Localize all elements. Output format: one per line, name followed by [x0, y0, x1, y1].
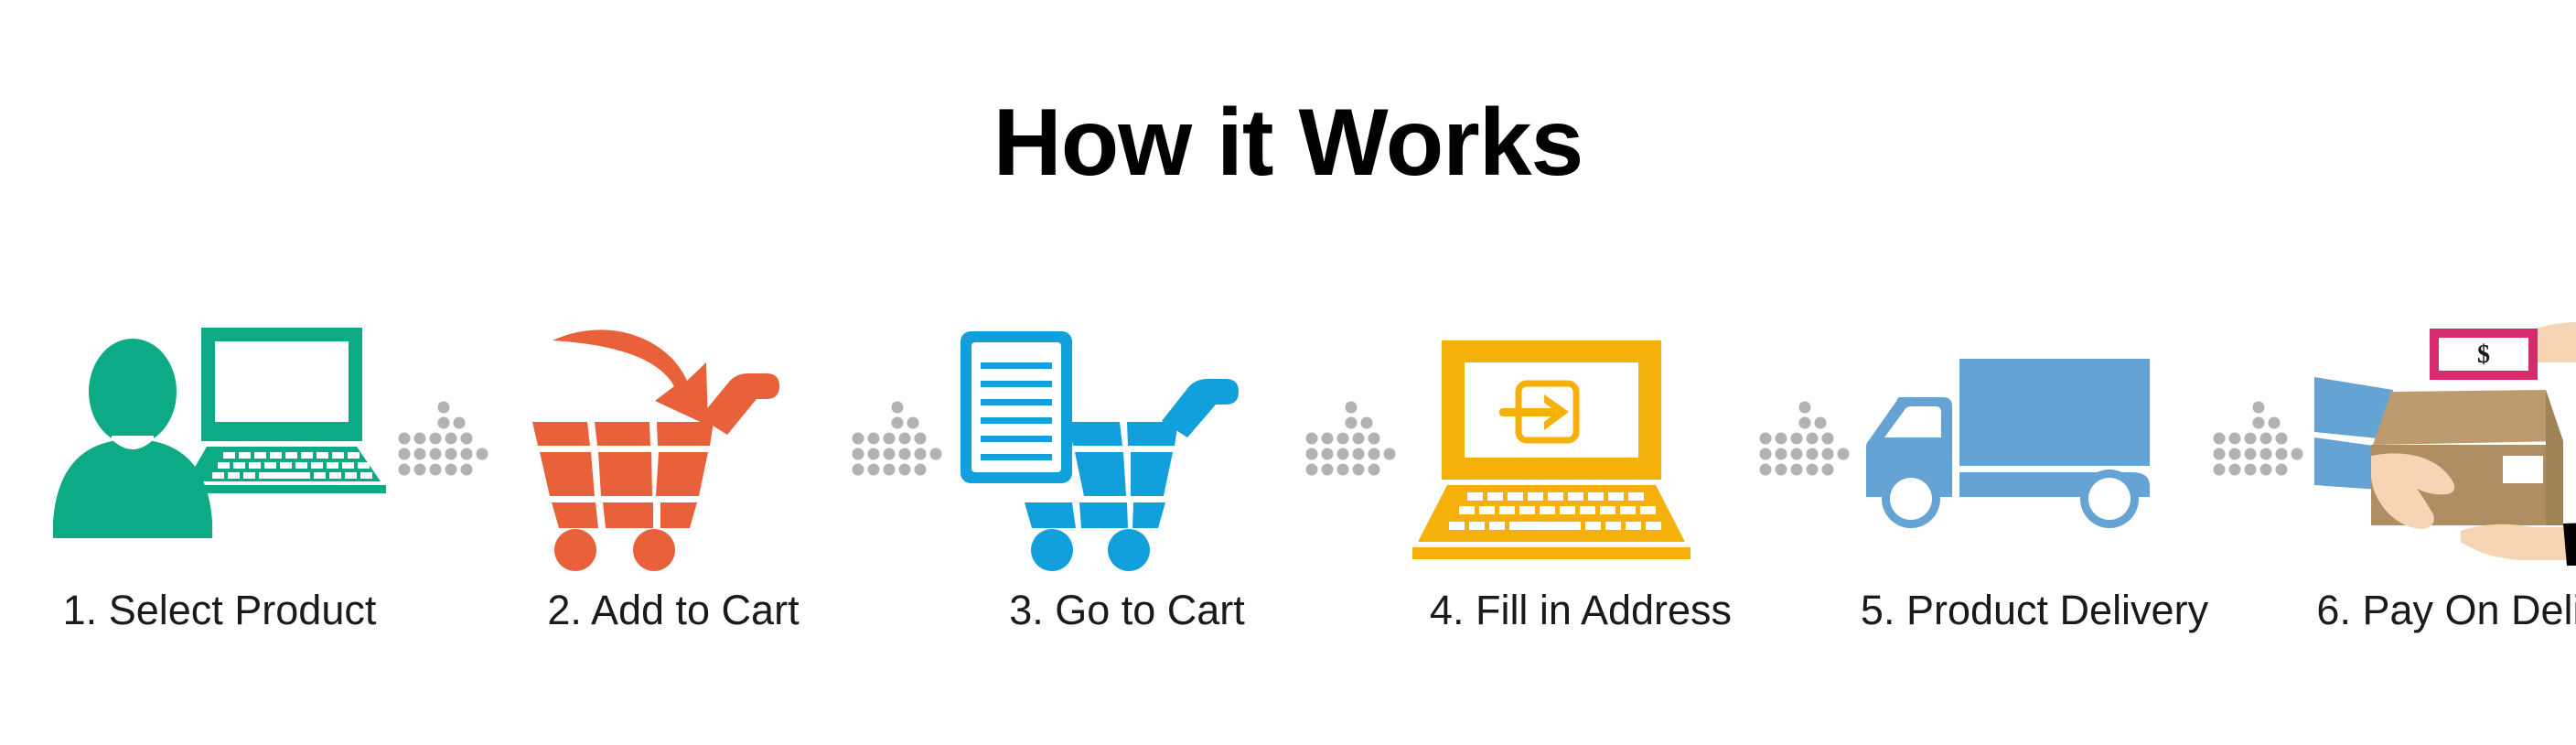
dotted-arrow-right-icon	[1755, 302, 1861, 577]
steps-row: 1. Select Product	[46, 302, 2530, 633]
step-label: 6. Pay On Delivery	[2316, 588, 2576, 633]
step-1-select-product[interactable]: 1. Select Product	[46, 302, 393, 633]
money-symbol: $	[2477, 340, 2490, 369]
step-6-pay-on-delivery[interactable]: $	[2314, 302, 2576, 633]
dotted-arrow-right-icon	[847, 302, 953, 577]
step-5-product-delivery[interactable]: 5. Product Delivery	[1861, 302, 2208, 633]
cart-with-arrow-icon	[499, 302, 847, 577]
dotted-arrow-right-icon	[393, 302, 499, 577]
delivery-truck-icon	[1861, 302, 2208, 577]
document-cart-icon	[953, 302, 1301, 577]
dotted-arrow-svg	[2208, 396, 2314, 483]
person-laptop-icon	[46, 302, 393, 577]
dotted-arrow-right-icon	[1301, 302, 1407, 577]
laptop-login-svg	[1407, 302, 1755, 577]
step-label: 5. Product Delivery	[1861, 588, 2208, 633]
hands-box-money-icon: $	[2314, 302, 2576, 577]
step-2-add-to-cart[interactable]: 2. Add to Cart	[499, 302, 847, 633]
laptop-login-icon	[1407, 302, 1755, 577]
delivery-truck-svg	[1861, 302, 2208, 577]
hands-box-money-svg: $	[2314, 302, 2576, 577]
dotted-arrow-right-icon	[2208, 302, 2314, 577]
step-label: 4. Fill in Address	[1430, 588, 1732, 633]
step-3-go-to-cart[interactable]: 3. Go to Cart	[953, 302, 1301, 633]
infographic-page: How it Works	[0, 0, 2576, 745]
step-4-fill-in-address[interactable]: 4. Fill in Address	[1407, 302, 1755, 633]
page-title: How it Works	[0, 95, 2576, 190]
cart-arrow-svg	[499, 302, 847, 577]
person-laptop-svg	[46, 302, 393, 577]
dotted-arrow-svg	[1755, 396, 1861, 483]
step-label: 3. Go to Cart	[1009, 588, 1245, 633]
step-label: 1. Select Product	[63, 588, 377, 633]
step-label: 2. Add to Cart	[547, 588, 799, 633]
dotted-arrow-svg	[1301, 396, 1407, 483]
document-cart-svg	[953, 302, 1301, 577]
dotted-arrow-svg	[847, 396, 953, 483]
dotted-arrow-svg	[393, 396, 499, 483]
